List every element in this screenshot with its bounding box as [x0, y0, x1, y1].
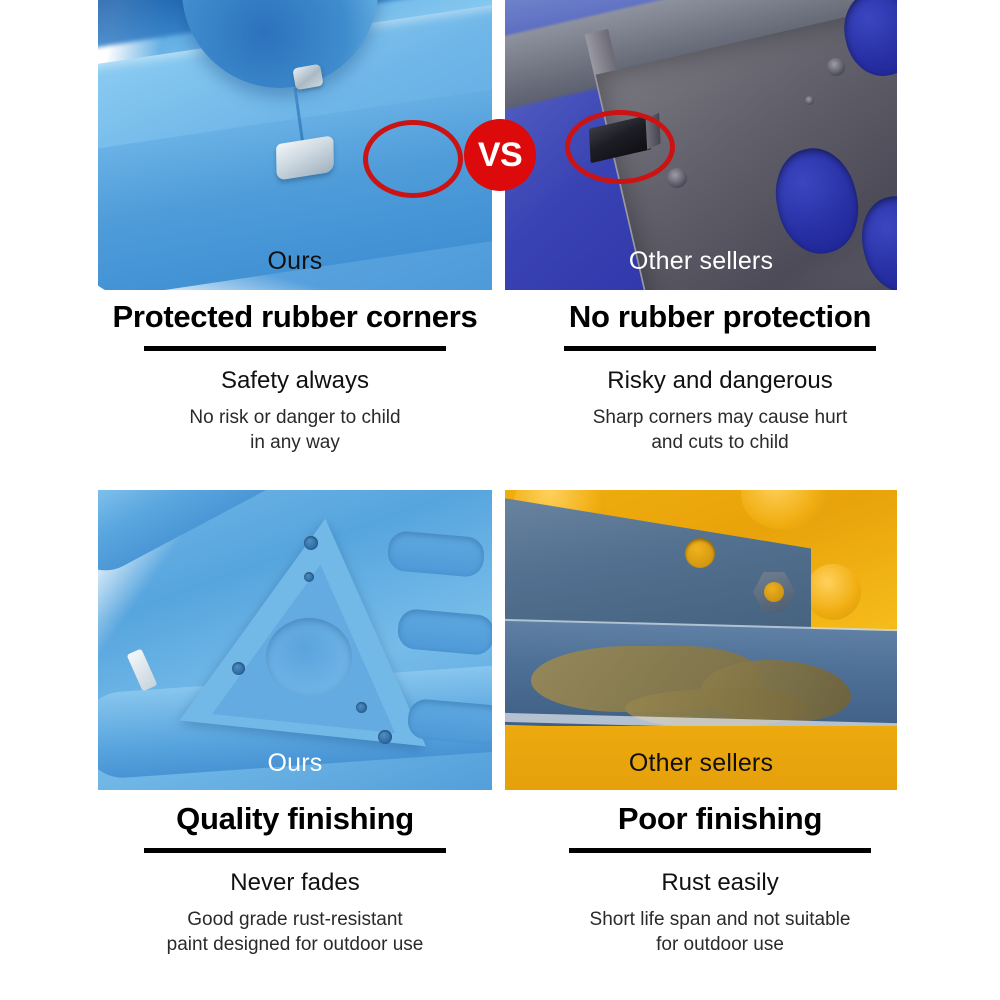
divider-rule [144, 848, 446, 853]
metal-tip [127, 648, 158, 691]
infographic-page: Ours Other sellers [0, 0, 1000, 1000]
text-column-ours-corner: Protected rubber corners Safety always N… [70, 300, 520, 490]
detail-ours-corner: No risk or danger to child in any way [70, 405, 520, 455]
headline-other-corner: No rubber protection [500, 300, 940, 334]
screw-head [304, 572, 314, 582]
divider-rule [144, 346, 446, 351]
product-photo-other-finish [505, 490, 897, 790]
photo-ours-corner: Ours [98, 0, 492, 290]
table-yellow-recess [805, 564, 861, 620]
text-row-corners: Protected rubber corners Safety always N… [0, 300, 1000, 490]
photo-ours-finish: Ours [98, 490, 492, 790]
divider-rule [569, 848, 871, 853]
headline-ours-corner: Protected rubber corners [70, 300, 520, 334]
product-photo-ours-finish [98, 490, 492, 790]
text-column-other-finish: Poor finishing Rust easily Short life sp… [500, 802, 940, 1000]
photo-caption-other-corner: Other sellers [505, 247, 897, 276]
divider-rule [564, 346, 876, 351]
text-row-finishing: Quality finishing Never fades Good grade… [0, 802, 1000, 1000]
detail-other-corner: Sharp corners may cause hurt and cuts to… [500, 405, 940, 455]
screw-head [304, 536, 318, 550]
headline-ours-finish: Quality finishing [70, 802, 520, 836]
comparison-block-finishing: Ours Othe [0, 490, 1000, 1000]
photo-caption-other-finish: Other sellers [505, 749, 897, 778]
photo-other-finish: Other sellers [505, 490, 897, 790]
screw-head [232, 662, 245, 675]
table-yellow-recess [741, 490, 829, 530]
text-column-other-corner: No rubber protection Risky and dangerous… [500, 300, 940, 490]
photo-caption-ours-finish: Ours [98, 749, 492, 778]
subhead-ours-corner: Safety always [70, 367, 520, 395]
vs-badge-corners: VS [464, 119, 536, 191]
screw-head [356, 702, 367, 713]
bolt-head [827, 58, 845, 76]
photo-caption-ours-corner: Ours [98, 247, 492, 276]
photo-other-corner: Other sellers [505, 0, 897, 290]
subhead-other-corner: Risky and dangerous [500, 367, 940, 395]
subhead-ours-finish: Never fades [70, 869, 520, 897]
subhead-other-finish: Rust easily [500, 869, 940, 897]
photo-row-finishing: Ours Othe [0, 490, 1000, 790]
detail-ours-finish: Good grade rust-resistant paint designed… [70, 907, 520, 957]
screw-head [378, 730, 392, 744]
photo-row-corners: Ours Other sellers [0, 0, 1000, 290]
bolt-head [667, 168, 687, 188]
bracket-dimple [266, 618, 352, 696]
table-slot-recess [386, 530, 485, 578]
table-slot-recess [396, 608, 492, 656]
comparison-block-corners: Ours Other sellers [0, 0, 1000, 490]
bracket-hole [685, 538, 715, 568]
detail-other-finish: Short life span and not suitable for out… [500, 907, 940, 957]
bolt-head [805, 96, 814, 105]
headline-other-finish: Poor finishing [500, 802, 940, 836]
text-column-ours-finish: Quality finishing Never fades Good grade… [70, 802, 520, 1000]
